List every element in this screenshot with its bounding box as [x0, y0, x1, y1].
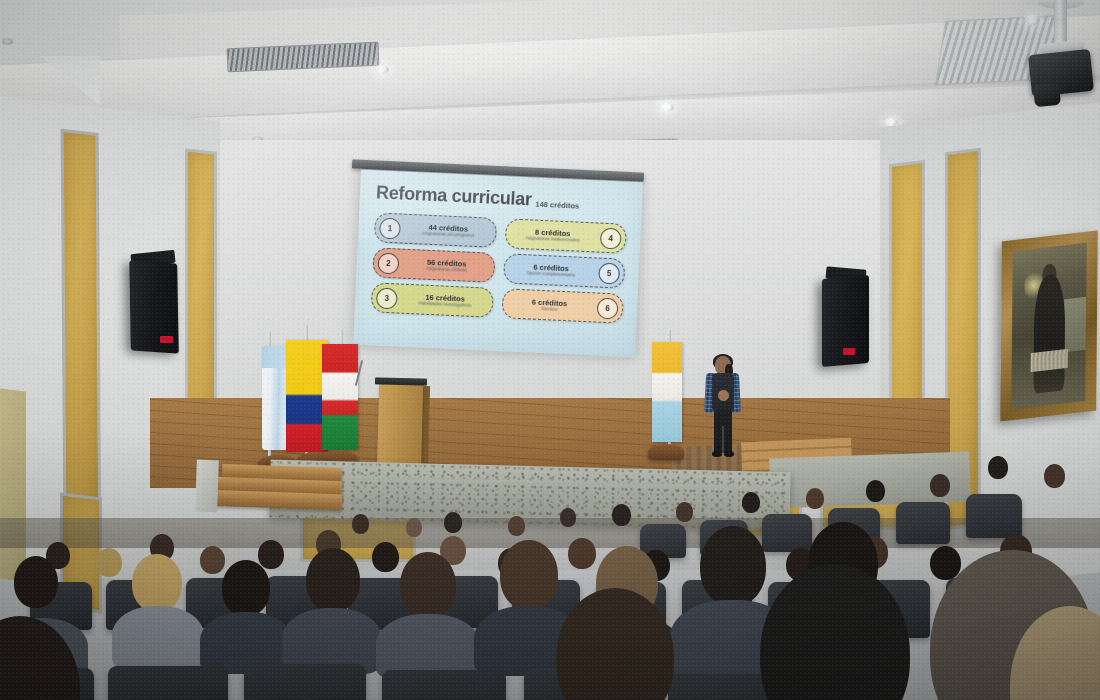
slide-item-number: 2: [377, 253, 399, 275]
audience-head: [400, 552, 456, 618]
audience-head: [258, 540, 284, 569]
audience-head: [560, 508, 576, 527]
audience-shoulders: [112, 606, 204, 670]
audience-head: [132, 554, 182, 612]
audience-area: [0, 430, 1100, 700]
ceiling-bevel: [40, 56, 100, 106]
podium-top-surface: [375, 377, 427, 385]
audience-head: [508, 516, 525, 536]
audience-head: [222, 560, 270, 616]
auditorium-seat[interactable]: [896, 502, 950, 544]
downlight-icon: [1025, 15, 1040, 25]
auditorium-seat[interactable]: [108, 666, 228, 700]
slide-item-number: 4: [600, 228, 622, 250]
presenter-hands: [718, 390, 729, 401]
slide-content: Reforma curricular 148 créditos 1 44 cré…: [353, 170, 643, 358]
downlight-icon: [2, 38, 13, 45]
audience-head: [806, 488, 824, 509]
framed-painting: [1000, 230, 1098, 421]
projector-lens-icon: [1033, 83, 1061, 108]
slide-item-text: 16 créditos Habilidades investigativas: [398, 292, 492, 309]
slide-item: 5 6 créditos Opción complementaria: [503, 253, 626, 288]
audience-head: [14, 556, 58, 608]
audience-head: [200, 546, 225, 574]
audience-head: [444, 512, 462, 533]
slide-subtitle: 148 créditos: [535, 200, 579, 211]
slide-item-number: 1: [379, 218, 401, 240]
slide-title: Reforma curricular: [376, 183, 532, 208]
audience-head: [96, 548, 122, 577]
audience-head: [676, 502, 693, 522]
audience-head: [568, 538, 596, 569]
auditorium-photo: Reforma curricular 148 créditos 1 44 cré…: [0, 0, 1100, 700]
auditorium-seat[interactable]: [382, 670, 506, 700]
downlight-icon: [660, 103, 674, 112]
audience-head: [406, 518, 422, 537]
slide-item-text: 44 créditos Asignaturas del programa: [401, 222, 495, 239]
slide-item: 2 56 créditos Asignaturas clínicas: [372, 247, 495, 282]
painting-canvas: [1011, 243, 1086, 410]
slide-items-grid: 1 44 créditos Asignaturas del programa 4…: [371, 212, 627, 323]
audience-head: [306, 548, 360, 612]
audience-head: [500, 540, 558, 610]
audience-head: [988, 456, 1008, 479]
audience-head: [866, 480, 885, 502]
audience-head: [742, 492, 760, 513]
speaker-brand-logo: [160, 336, 173, 343]
auditorium-seat[interactable]: [244, 664, 366, 700]
audience-head: [700, 526, 766, 606]
audience-head: [372, 542, 399, 572]
slide-item-text: 6 créditos Opción complementaria: [504, 262, 598, 279]
slide-item-number: 3: [376, 288, 398, 310]
slide-item-text: 56 créditos Asignaturas clínicas: [400, 257, 494, 274]
slide-item: 1 44 créditos Asignaturas del programa: [374, 212, 497, 247]
slide-item-text: 8 créditos Asignaturas institucionales: [506, 227, 600, 244]
slide-item: 6 6 créditos Electiva: [501, 288, 624, 323]
painting-background: [1064, 296, 1087, 352]
audience-head: [930, 474, 950, 497]
painting-figure-body: [1034, 274, 1066, 395]
slide-item-number: 6: [597, 298, 619, 320]
downlight-icon: [375, 65, 389, 74]
speaker-brand-logo: [843, 348, 855, 355]
slide-item: 3 16 créditos Habilidades investigativas: [371, 282, 494, 317]
audience-head: [612, 504, 631, 526]
auditorium-seat[interactable]: [762, 514, 812, 552]
audience-head: [1044, 464, 1065, 488]
audience-head: [352, 514, 369, 534]
slide-item-text: 6 créditos Electiva: [502, 297, 596, 314]
flag-right-side: [652, 342, 682, 442]
slide-item: 4 8 créditos Asignaturas institucionales: [504, 218, 627, 253]
projection-screen: Reforma curricular 148 créditos 1 44 cré…: [353, 170, 643, 358]
slide-item-number: 5: [598, 263, 620, 285]
auditorium-seat[interactable]: [966, 494, 1022, 538]
